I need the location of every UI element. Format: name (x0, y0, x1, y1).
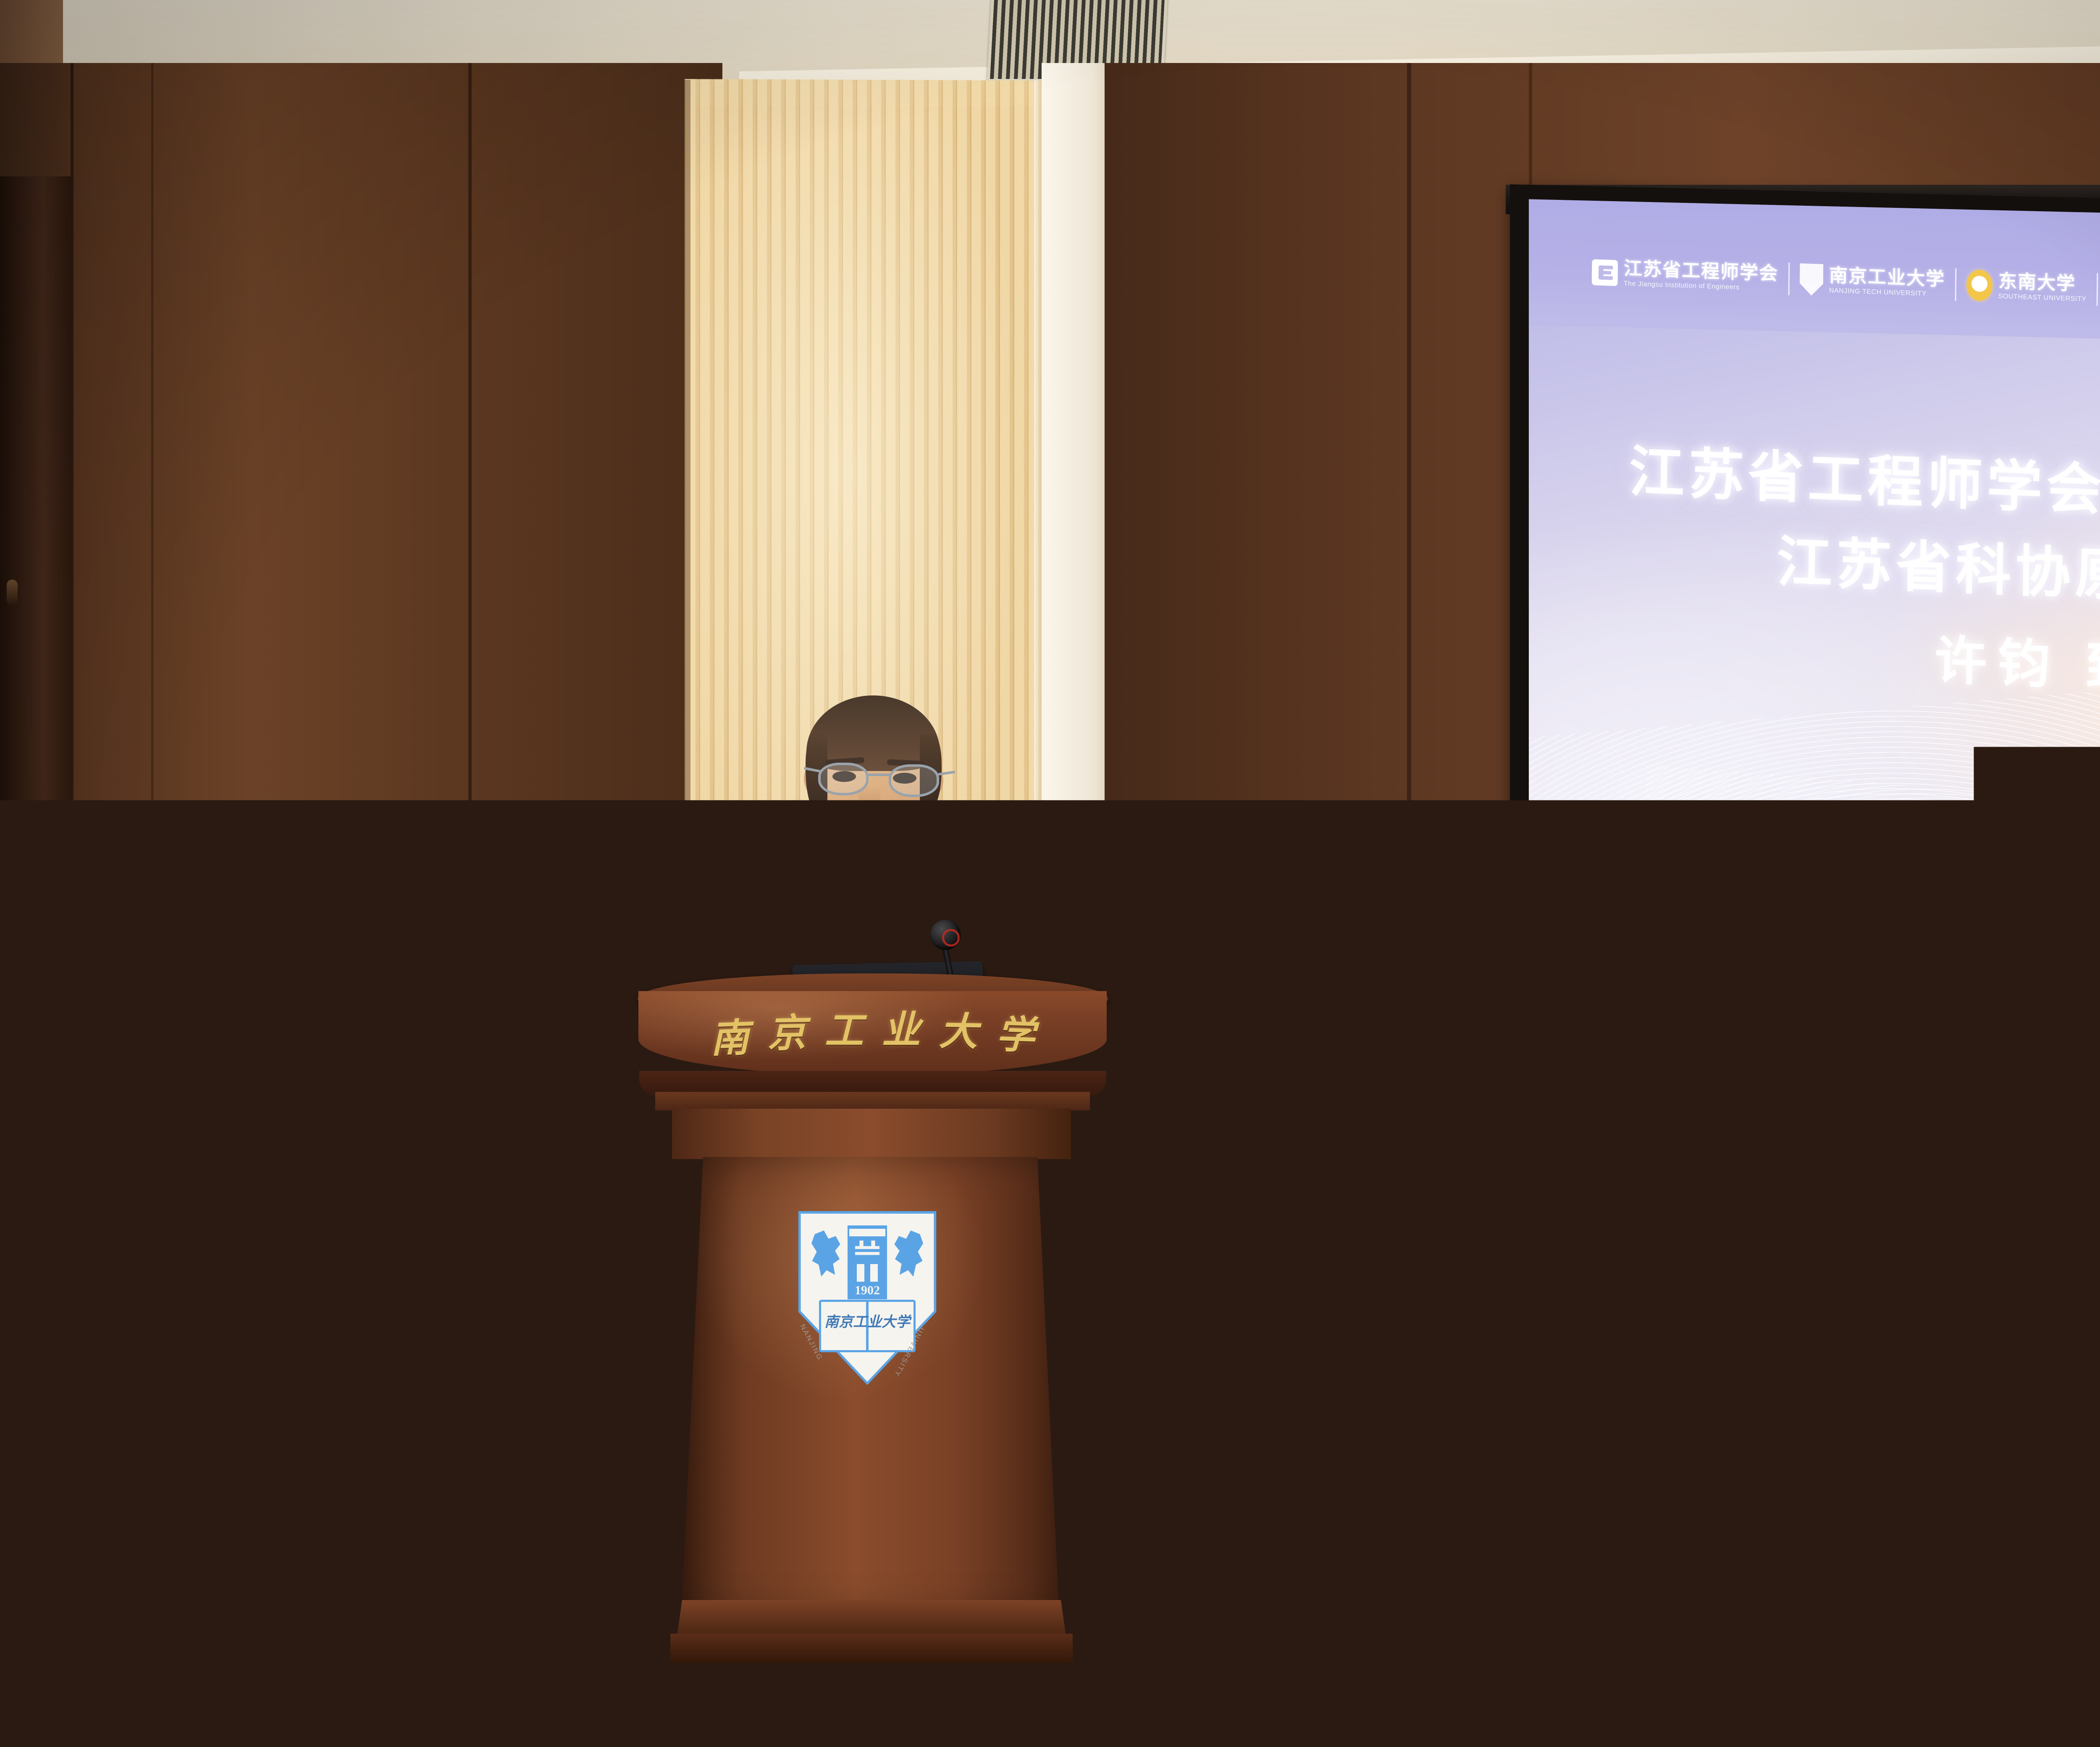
nanjing-tech-university-shield-logo-icon (1800, 263, 1824, 296)
logo-divider (2097, 273, 2098, 306)
podium-front-band (638, 991, 1107, 1075)
logo-nanjing-tech-university: 南京工业大学 NANJING TECH UNIVERSITY (1800, 263, 1945, 300)
logo-southeast-university: 东南大学 SOUTHEAST UNIVERSITY (1966, 270, 2087, 305)
logo-jiangsu-institution-of-engineers: 江苏省工程师学会 The Jiangsu Institution of Engi… (1592, 258, 1779, 292)
eyeglasses-icon (818, 761, 940, 797)
speaker-mouth (853, 827, 889, 844)
logo-label-en: SOUTHEAST UNIVERSITY (1998, 293, 2087, 303)
slide-headline-block: 江苏省工程师学会常务副理事长、 江苏省科协原副巡视员 许钧 致辞 (1529, 426, 2100, 727)
logo-label-cn: 东南大学 (1998, 272, 2087, 294)
speaker-chin-shadow (832, 848, 916, 865)
logo-divider (1955, 268, 1957, 301)
microphone-indicator-ring (942, 929, 960, 947)
conference-hall-photo: 江苏省工程师学会 The Jiangsu Institution of Engi… (0, 0, 2100, 1747)
floor-cables (0, 1071, 1260, 1747)
logo-label-cn: 江苏省工程师学会 (1624, 259, 1778, 283)
southeast-university-oval-logo-icon (1966, 270, 1993, 302)
speaker-shirt-button (853, 936, 863, 945)
jiangsu-institution-of-engineers-logo-icon (1592, 259, 1618, 286)
projection-screen: 江苏省工程师学会 The Jiangsu Institution of Engi… (1529, 199, 2100, 997)
logo-label-cn: 南京工业大学 (1829, 266, 1945, 289)
logo-divider (1788, 262, 1790, 295)
door-handle[interactable] (7, 580, 18, 605)
